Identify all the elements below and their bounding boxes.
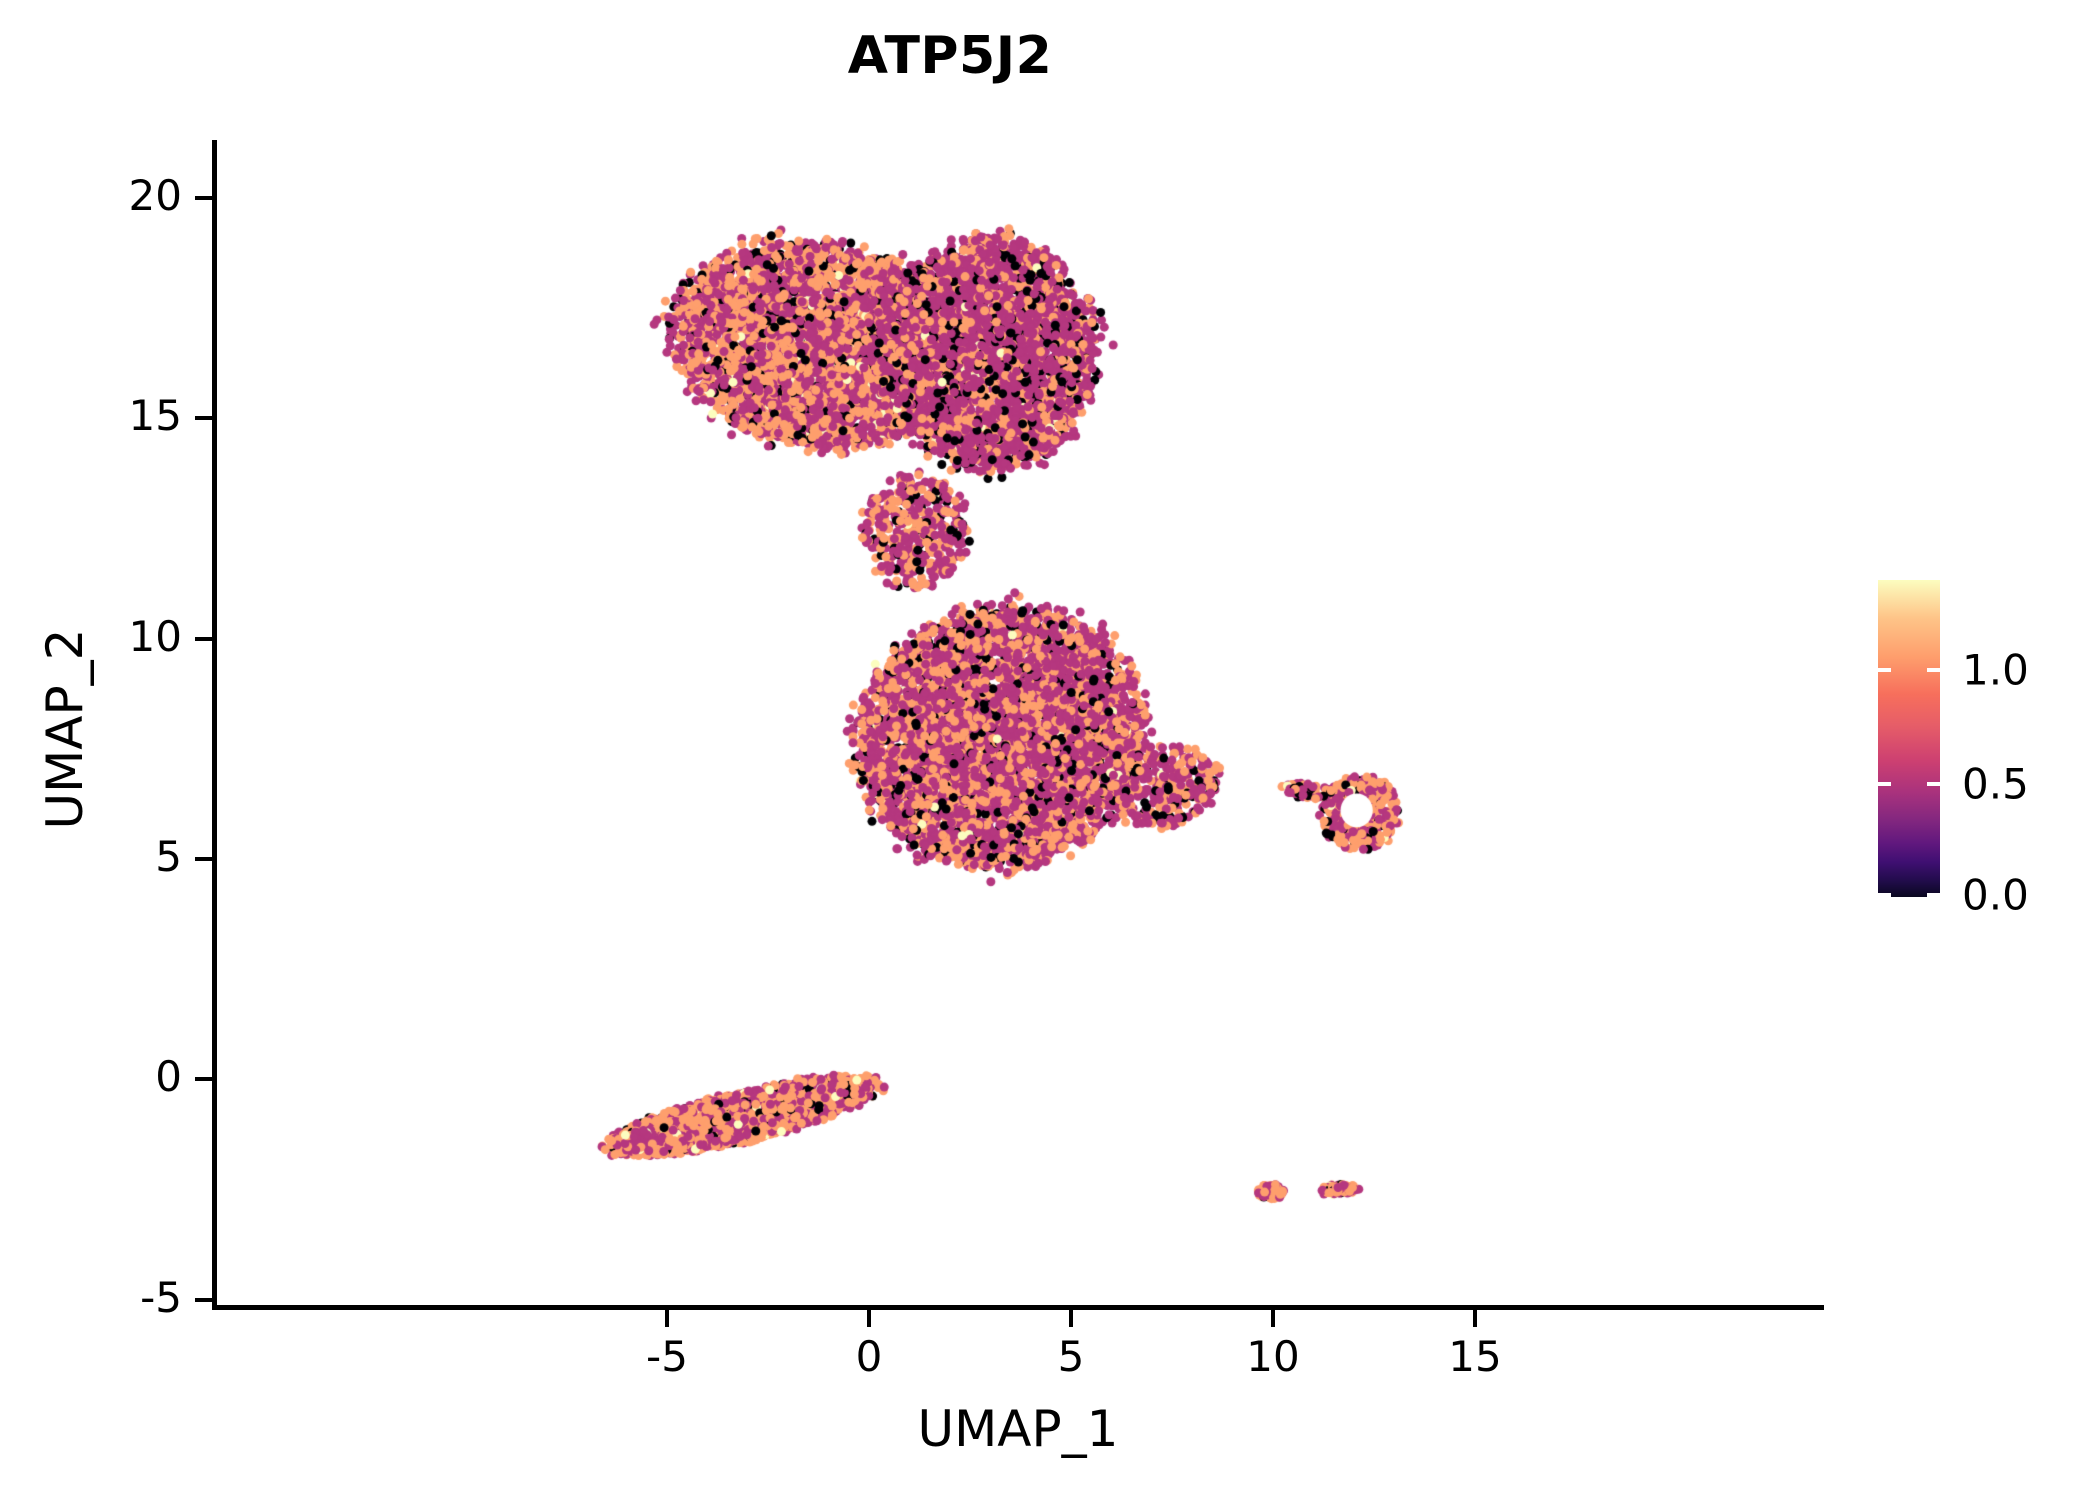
colorbar-tick-label: 1.0	[1962, 646, 2029, 695]
y-tick-mark	[195, 637, 212, 641]
y-tick-mark	[195, 1298, 212, 1302]
colorbar-tick-label: 0.0	[1962, 871, 2029, 920]
x-tick-label: -5	[587, 1332, 747, 1381]
scatter-plot-canvas	[0, 0, 2100, 1500]
x-tick-label: 15	[1395, 1332, 1555, 1381]
colorbar-tick-mark	[1878, 668, 1940, 672]
y-tick-mark	[195, 1077, 212, 1081]
y-tick-mark	[195, 196, 212, 200]
x-tick-label: 10	[1193, 1332, 1353, 1381]
y-axis-label: UMAP_2	[36, 379, 94, 1079]
colorbar-tick-label: 0.5	[1962, 760, 2029, 809]
x-tick-mark	[867, 1310, 871, 1327]
y-tick-label: -5	[0, 1273, 182, 1322]
x-tick-mark	[1069, 1310, 1073, 1327]
y-tick-mark	[195, 857, 212, 861]
x-tick-label: 5	[991, 1332, 1151, 1381]
y-tick-mark	[195, 416, 212, 420]
x-tick-mark	[1473, 1310, 1477, 1327]
colorbar-gradient	[1878, 580, 1940, 897]
x-tick-label: 0	[789, 1332, 949, 1381]
y-axis-spine	[212, 140, 217, 1310]
colorbar-tick-mark	[1878, 782, 1940, 786]
x-tick-mark	[665, 1310, 669, 1327]
x-axis-label: UMAP_1	[212, 1400, 1824, 1458]
colorbar-legend: 1.0 0.5 0.0	[1878, 580, 2098, 900]
x-tick-mark	[1271, 1310, 1275, 1327]
y-tick-label: 20	[0, 171, 182, 220]
colorbar-tick-mark	[1878, 893, 1940, 897]
figure-canvas: ATP5J2 -5 0 5 10 15 20 15 10 5 0 -5 UMAP…	[0, 0, 2100, 1500]
x-axis-spine	[212, 1305, 1824, 1310]
